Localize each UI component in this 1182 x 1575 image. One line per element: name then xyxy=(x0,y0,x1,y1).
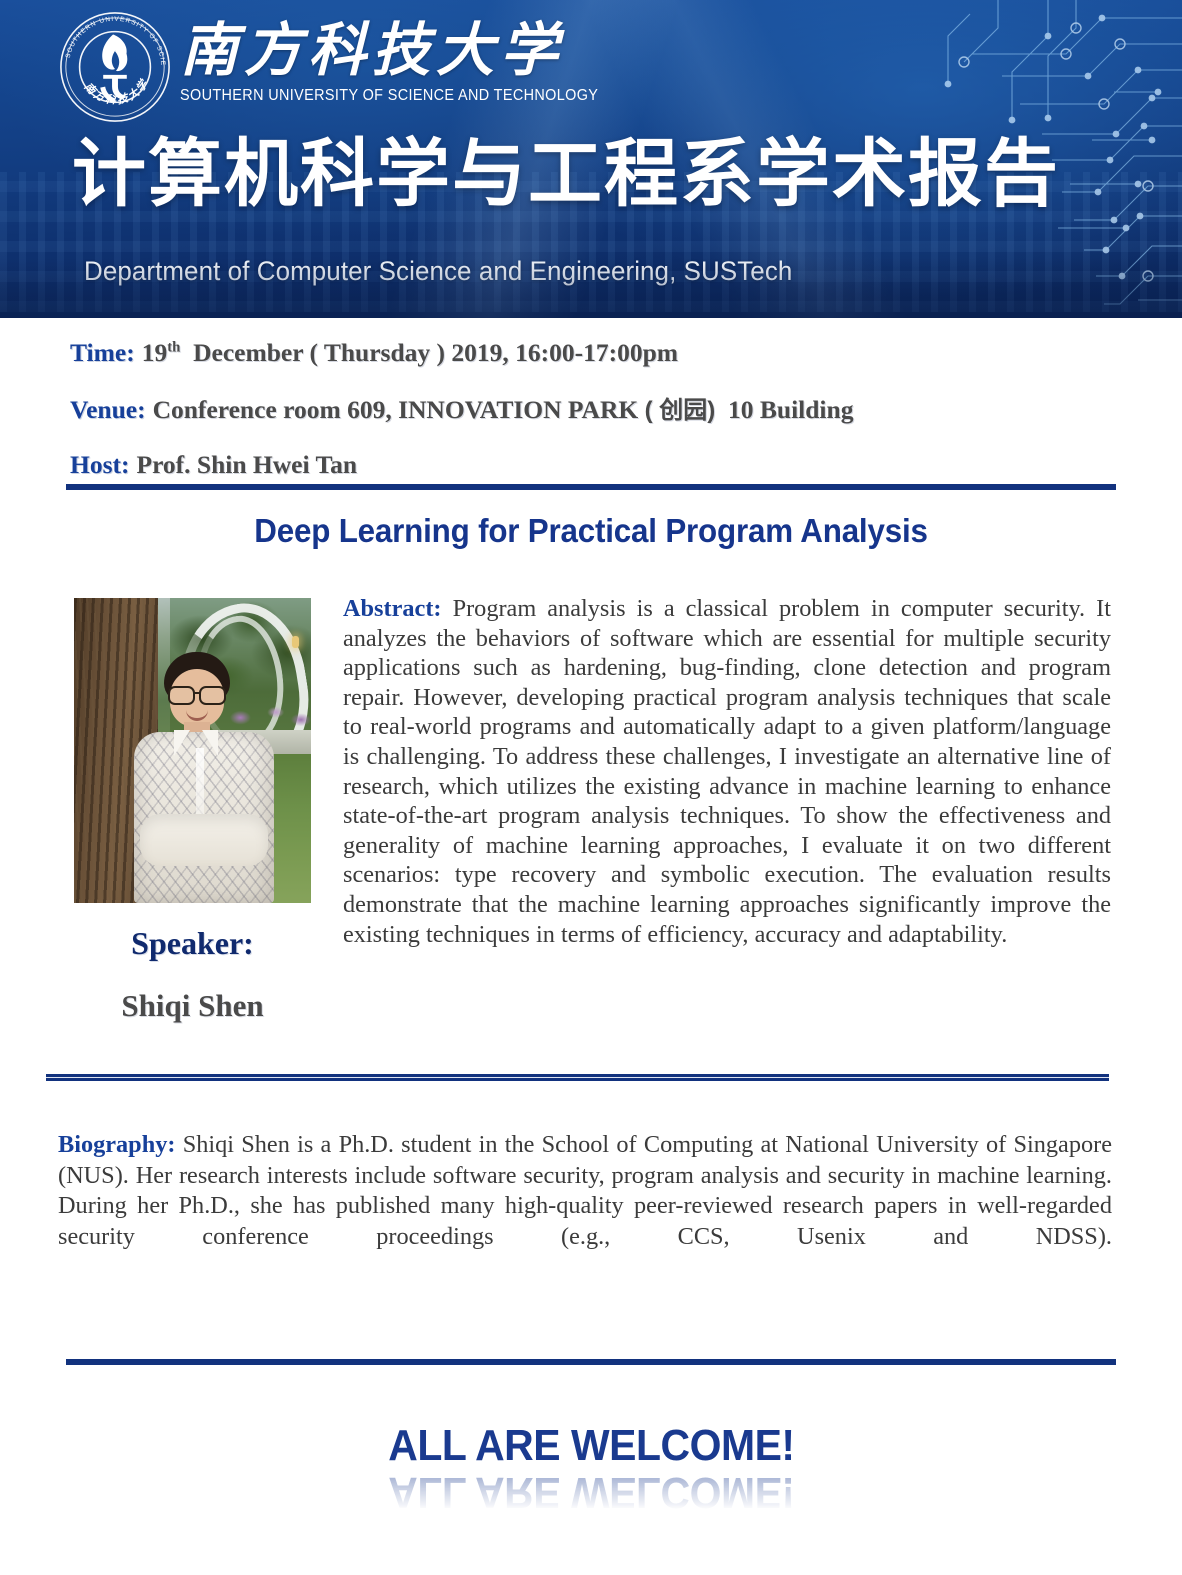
venue-label: Venue: xyxy=(70,395,146,424)
speaker-name: Shiqi Shen xyxy=(74,988,311,1024)
biography-text: Shiqi Shen is a Ph.D. student in the Sch… xyxy=(58,1131,1112,1250)
photo-person xyxy=(130,652,278,903)
header-banner: SOUTHERN UNIVERSITY OF SCIENCE AND TECHN… xyxy=(0,0,1182,318)
venue-value-b: 10 Building xyxy=(728,395,853,424)
welcome-text-reflection: ALL ARE WELCOME! xyxy=(388,1470,794,1514)
venue-value-cn: ( 创园) xyxy=(645,397,716,424)
person-collar-left xyxy=(174,730,190,756)
divider-above-title xyxy=(66,484,1116,490)
event-venue-row: Venue:Conference room 609, INNOVATION PA… xyxy=(70,397,853,423)
abstract-text: Program analysis is a classical problem … xyxy=(343,595,1111,948)
host-value: Prof. Shin Hwei Tan xyxy=(137,450,358,479)
time-day-suffix: th xyxy=(167,340,180,356)
venue-value: Conference room 609, INNOVATION PARK ( 创… xyxy=(153,395,854,424)
talk-title: Deep Learning for Practical Program Anal… xyxy=(30,512,1153,550)
welcome-text: ALL ARE WELCOME! xyxy=(388,1424,794,1468)
biography-label: Biography: xyxy=(58,1131,175,1158)
university-name-en: SOUTHERN UNIVERSITY OF SCIENCE AND TECHN… xyxy=(180,87,487,105)
divider-below-abstract xyxy=(46,1074,1109,1081)
banner-subtitle-en: Department of Computer Science and Engin… xyxy=(84,256,792,287)
time-label: Time: xyxy=(70,338,135,367)
event-host-row: Host:Prof. Shin Hwei Tan xyxy=(70,452,357,478)
person-glasses-icon xyxy=(168,686,226,701)
venue-value-a: Conference room 609, INNOVATION PARK xyxy=(153,395,639,424)
time-rest: December ( Thursday ) 2019, 16:00-17:00p… xyxy=(193,338,678,367)
host-label: Host: xyxy=(70,450,130,479)
divider-above-footer xyxy=(66,1359,1116,1365)
speaker-photo xyxy=(74,598,311,903)
banner-title-cn: 计算机科学与工程系学术报告 xyxy=(72,137,1060,211)
biography-section: Biography: Shiqi Shen is a Ph.D. student… xyxy=(58,1130,1112,1283)
speaker-label: Speaker: xyxy=(74,925,311,962)
time-value: 19th December ( Thursday ) 2019, 16:00-1… xyxy=(142,338,678,367)
abstract-label: Abstract: xyxy=(343,595,442,622)
abstract-section: Abstract: Program analysis is a classica… xyxy=(343,594,1111,949)
event-time-row: Time:19th December ( Thursday ) 2019, 16… xyxy=(70,340,678,366)
photo-lamp-light xyxy=(292,636,299,648)
sustech-seal-logo-icon: SOUTHERN UNIVERSITY OF SCIENCE AND TECHN… xyxy=(55,8,175,126)
speaker-column: Speaker: Shiqi Shen xyxy=(74,598,311,1024)
university-name-cn: 南方科技大学 xyxy=(180,22,510,80)
time-day: 19 xyxy=(142,338,168,367)
sustech-wordmark: 南方科技大学 SOUTHERN UNIVERSITY OF SCIENCE AN… xyxy=(180,22,510,105)
footer-welcome-block: ALL ARE WELCOME! ALL ARE WELCOME! xyxy=(0,1424,1182,1514)
person-collar-right xyxy=(202,730,218,756)
person-folded-arms xyxy=(140,814,268,866)
